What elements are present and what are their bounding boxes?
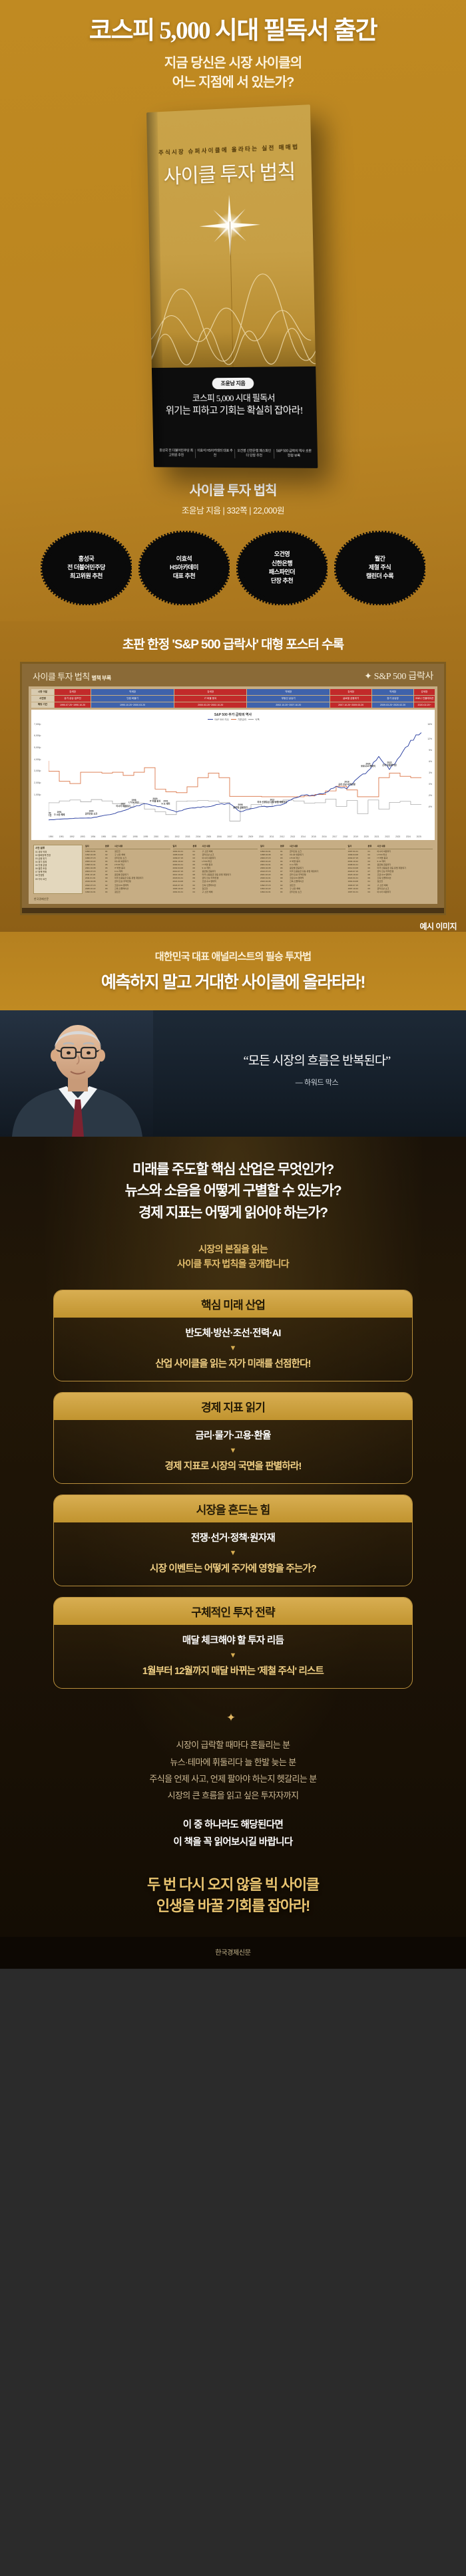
product-meta: 조윤남 지음 | 332쪽 | 22,000원 xyxy=(0,503,466,516)
sparkle-icon: ✦ xyxy=(0,1711,466,1725)
svg-text:금리 인상·무역전쟁: 금리 인상·무역전쟁 xyxy=(338,782,355,786)
chart-x-tick: 2022 xyxy=(385,835,389,838)
closing-line: 시장의 큰 흐름을 읽고 싶은 투자자까지 xyxy=(0,1787,466,1804)
book-tagline: 주식시장 슈퍼사이클에 올라타는 실전 매매법 xyxy=(147,142,311,156)
chart-x-tick: 2013 xyxy=(290,835,295,838)
strip-row-label: 시장 구분 xyxy=(31,689,54,695)
strip-cell: 2020.02.20~ xyxy=(414,702,435,708)
event-legend: 사건 분류 01 대외 악재 02 통화정책 변경 03 금융 위기 04 경기… xyxy=(33,845,83,894)
book-author-pill: 조윤남 지음 xyxy=(212,377,254,388)
chart-y-tick: 2,000p xyxy=(34,782,41,784)
poster-publisher-mark: 한국경제신문 xyxy=(31,896,435,901)
badge-line: 월간 xyxy=(375,555,385,563)
svg-text:9·11 테러: 9·11 테러 xyxy=(162,801,170,805)
strip-cell: 강세장 xyxy=(330,689,371,695)
page-title: 코스피 5,000 시대 필독서 출간 xyxy=(0,17,466,46)
event-row: 1997.01.0104아시아 외환위기 xyxy=(348,891,433,894)
strip-cell: 코로나·인플레이션 xyxy=(414,696,435,702)
strip-cell: 강세장 xyxy=(174,689,246,695)
card-investment-strategy: 구체적인 투자 전략 매달 체크해야 할 투자 리듬 ▼ 1월부터 12월까지 … xyxy=(53,1597,413,1689)
chart-x-tick: 2009 xyxy=(248,835,253,838)
strip-cell: 장기 상승장 xyxy=(372,696,413,702)
event-column: 일자분류사건 내용1997.01.0101아시아 외환위기1999.04.080… xyxy=(348,845,433,894)
poster-bar: 사이클 투자 법칙 별책 부록 ✦ S&P 500 급락사 xyxy=(29,669,437,686)
final-cta: 두 번 다시 오지 않을 빅 사이클 인생을 바꿀 기회를 잡아라! xyxy=(0,1874,466,1937)
cta-subtitle: 대한민국 대표 애널리스트의 필승 투자법 xyxy=(0,949,466,963)
chart-y2-tick: -6% xyxy=(428,805,432,808)
event-legend-title: 사건 분류 xyxy=(35,847,81,850)
chart-y2-tick: -3% xyxy=(428,794,432,797)
strip-row-label: 사건명 xyxy=(31,696,54,702)
badge-line: 제철 주식 xyxy=(369,563,391,572)
badge-line: 전 더불어민주당 xyxy=(67,563,105,572)
chart-y2-tick: 16% xyxy=(427,723,432,726)
card-keywords: 반도체·방산·조선·전력·AI xyxy=(54,1326,412,1340)
poster-inner: 사이클 투자 법칙 별책 부록 ✦ S&P 500 급락사 시장 구분 강세장 … xyxy=(22,664,444,908)
event-row: 1990.01.0104걸프전 xyxy=(85,891,170,894)
svg-text:LTCM 파산: LTCM 파산 xyxy=(128,800,138,803)
chart-plot: 1990걸프전1991구 소련 해체1994금리인상 쇼크1997아시아 외환위… xyxy=(49,724,421,825)
closing-block: 시장이 급락할 때마다 흔들리는 분 뉴스·테마에 휘둘리다 늘 한발 늦는 분… xyxy=(0,1737,466,1852)
card-market-forces: 시장을 흔드는 힘 전쟁·선거·정책·원자재 ▼ 시장 이벤트는 어떻게 주가에… xyxy=(53,1495,413,1586)
sp500-chart: S&P 500 주가 급락의 역사 S&P 500 지수 기준금리 낙폭 199… xyxy=(31,710,435,840)
chart-x-axis: 1990199119921993199419951996199719981999… xyxy=(49,835,421,838)
badge-line: 캘린더 수록 xyxy=(366,572,393,581)
chart-y2-tick: 12% xyxy=(427,738,432,740)
card-list: 핵심 미래 산업 반도체·방산·조선·전력·AI ▼ 산업 사이클을 읽는 자가… xyxy=(53,1290,413,1689)
chart-title: S&P 500 주가 급락의 역사 xyxy=(33,712,433,717)
chart-x-tick: 1997 xyxy=(122,835,127,838)
lead-block: 시장의 본질을 읽는 사이클 투자 법칙을 공개합니다 xyxy=(0,1242,466,1272)
quote-attribution: — 하워드 막스 xyxy=(184,1077,450,1087)
event-row: 1991.01.0104구 소련 해체 xyxy=(173,891,258,894)
chart-x-tick: 1998 xyxy=(132,835,137,838)
content-section: 미래를 주도할 핵심 산업은 무엇인가? 뉴스와 소음을 어떻게 구별할 수 있… xyxy=(0,1137,466,1937)
chart-x-tick: 2020 xyxy=(364,835,369,838)
strip-cell: 닷컴 버블기 xyxy=(91,696,174,702)
hero-subtitle-line1: 지금 당신은 시장 사이클의 xyxy=(0,54,466,73)
book-title: 사이클 투자 법칙 xyxy=(148,154,312,190)
badge-row: 홍성국 전 더불어민주당 최고위원 추천 이효석 HS아카데미 대표 추천 오건… xyxy=(0,531,466,621)
card-outcome: 산업 사이클을 읽는 자가 미래를 선점한다! xyxy=(54,1356,412,1377)
strip-cell: 1990.07.20~1990.10.20 xyxy=(55,702,91,708)
chart-y-tick: 5,000p xyxy=(34,746,41,749)
svg-text:코로나19 팬데믹: 코로나19 팬데믹 xyxy=(361,764,375,768)
chart-x-tick: 2014 xyxy=(301,835,306,838)
svg-text:미국 신용등급 강등·유럽 재정위기: 미국 신용등급 강등·유럽 재정위기 xyxy=(258,800,288,803)
chart-x-tick: 2015 xyxy=(312,835,316,838)
card-outcome: 1월부터 12월까지 매달 바뀌는 '제철 주식' 리스트 xyxy=(54,1663,412,1684)
closing-line: 시장이 급락할 때마다 흔들리는 분 xyxy=(0,1737,466,1753)
chart-x-tick: 1992 xyxy=(70,835,75,838)
chart-x-tick: 2004 xyxy=(196,835,200,838)
chart-y-tick: 1,000p xyxy=(34,793,41,796)
strip-cell: 1990.10.20~2000.03.20 xyxy=(91,702,174,708)
strip-cell: 2007.10.20~2009.03.20 xyxy=(330,702,371,708)
chart-x-tick: 2003 xyxy=(185,835,190,838)
market-period-strip: 시장 구분 강세장 약세장 강세장 약세장 강세장 약세장 강세장 사건명 유가… xyxy=(31,689,435,708)
chart-x-tick: 2006 xyxy=(217,835,222,838)
badge-line: 패스파인더 xyxy=(269,568,295,577)
poster-sheet: 시장 구분 강세장 약세장 강세장 약세장 강세장 약세장 강세장 사건명 유가… xyxy=(29,686,437,904)
quote-block: “모든 시장의 흐름은 반복된다” — 하워드 막스 xyxy=(184,1052,450,1087)
howard-marks-portrait xyxy=(0,1010,153,1137)
chevron-down-icon: ▼ xyxy=(54,1549,412,1557)
chart-x-tick: 2019 xyxy=(353,835,358,838)
strip-row-label: 해당 기간 xyxy=(31,702,54,708)
chart-y2-tick: 9% xyxy=(429,749,432,752)
card-body: 전쟁·선거·정책·원자재 ▼ 시장 이벤트는 어떻게 주가에 영향을 주는가? xyxy=(54,1522,412,1586)
badge-label: 이효석 HS아카데미 대표 추천 xyxy=(138,531,230,605)
poster-bar-right: ✦ S&P 500 급락사 xyxy=(364,669,433,682)
poster-bar-left-title: 사이클 투자 법칙 xyxy=(33,672,90,682)
chart-y2-tick: 6% xyxy=(429,760,432,763)
svg-text:금리인상 쇼크: 금리인상 쇼크 xyxy=(85,811,98,815)
legend-item: 기준금리 xyxy=(238,718,246,721)
poster-bar-left: 사이클 투자 법칙 별책 부록 xyxy=(33,670,111,682)
strip-cell: 2009.03.20~2020.02.20 xyxy=(372,702,413,708)
closing-highlight: 이 중 하나라도 해당된다면 xyxy=(0,1816,466,1834)
footer-publisher: 한국경제신문 xyxy=(215,1949,250,1957)
badge-line: 오건영 xyxy=(274,550,290,559)
chart-x-tick: 2021 xyxy=(374,835,379,838)
chart-x-tick: 2005 xyxy=(206,835,211,838)
book-band-line2: 위기는 피하고 기회는 확실히 잡아라! xyxy=(152,402,317,417)
chart-x-tick: 1994 xyxy=(91,835,95,838)
final-line: 두 번 다시 오지 않을 빅 사이클 xyxy=(0,1874,466,1896)
strip-cell: IT 버블 붕괴 xyxy=(174,696,246,702)
badge-label: 오건영 신한은행 패스파인더 단장 추천 xyxy=(236,531,328,605)
lead-line: 시장의 본질을 읽는 xyxy=(0,1242,466,1256)
chart-x-tick: 1999 xyxy=(143,835,148,838)
card-outcome: 경제 지표로 시장의 국면을 판별하라! xyxy=(54,1459,412,1479)
chart-x-tick: 2000 xyxy=(154,835,158,838)
strip-cell: 약세장 xyxy=(91,689,174,695)
chart-x-tick: 2011 xyxy=(270,835,274,838)
book-3d: 주식시장 슈퍼사이클에 올라타는 실전 매매법 사이클 투자 법칙 xyxy=(146,104,318,468)
chart-x-tick: 2025 xyxy=(417,835,421,838)
chart-x-tick: 1996 xyxy=(112,835,116,838)
product-title: 사이클 투자 법칙 xyxy=(0,480,466,499)
chart-y-tick: 3,000p xyxy=(34,770,41,772)
card-body: 금리·물가·고용·환율 ▼ 경제 지표로 시장의 국면을 판별하라! xyxy=(54,1420,412,1483)
card-header: 구체적인 투자 전략 xyxy=(54,1598,412,1625)
card-body: 반도체·방산·조선·전력·AI ▼ 산업 사이클을 읽는 자가 미래를 선점한다… xyxy=(54,1318,412,1381)
book-band-line1: 코스피 5,000 시대 필독서 xyxy=(152,390,317,404)
example-image-label: 예시 이미지 xyxy=(0,915,466,932)
question-line: 뉴스와 소음을 어떻게 구별할 수 있는가? xyxy=(0,1181,466,1203)
question-line: 미래를 주도할 핵심 산업은 무엇인가? xyxy=(0,1159,466,1181)
chart-x-tick: 2010 xyxy=(259,835,264,838)
final-line: 인생을 바꿀 기회를 잡아라! xyxy=(0,1896,466,1917)
badge-line: 홍성국 xyxy=(79,555,95,563)
chart-y-tick: 7,000p xyxy=(34,723,41,726)
strip-cell: 유가 상승·걸프전 xyxy=(55,696,91,702)
chart-x-tick: 2001 xyxy=(164,835,169,838)
strip-row-kind: 시장 구분 강세장 약세장 강세장 약세장 강세장 약세장 강세장 xyxy=(31,689,435,695)
svg-text:구 소련 해체: 구 소련 해체 xyxy=(54,813,65,816)
event-column: 일자분류사건 내용1991.01.0101구 소련 해체1995.04.0802… xyxy=(173,845,258,894)
legend-item: 낙폭 xyxy=(255,718,260,721)
quote-text: “모든 시장의 흐름은 반복된다” xyxy=(184,1052,450,1069)
event-column: 일자분류사건 내용1994.01.0101금리인상 쇼크1998.04.0802… xyxy=(260,845,346,894)
book-endorsement-row: 홍성국 전 더불어민주당 최고위원 추천 이효석 HS아카데미 대표 추천 오건… xyxy=(157,448,314,459)
strip-cell: 강세장 xyxy=(414,689,435,695)
badge-lee-hyo-seok: 이효석 HS아카데미 대표 추천 xyxy=(138,531,230,605)
chart-y2-tick: 0% xyxy=(429,783,432,786)
chart-x-tick: 2017 xyxy=(332,835,337,838)
closing-line: 주식을 언제 사고, 언제 팔아야 하는지 헷갈리는 분 xyxy=(0,1771,466,1787)
card-header: 핵심 미래 산업 xyxy=(54,1290,412,1318)
event-table: 사건 분류 01 대외 악재 02 통화정책 변경 03 금융 위기 04 경기… xyxy=(31,843,435,896)
strip-cell: 약세장 xyxy=(372,689,413,695)
badge-hong-seong-guk: 홍성국 전 더불어민주당 최고위원 추천 xyxy=(41,531,132,605)
strip-cell: 약세장 xyxy=(247,689,330,695)
card-keywords: 금리·물가·고용·환율 xyxy=(54,1428,412,1442)
closing-highlight: 이 책을 꼭 읽어보시길 바랍니다 xyxy=(0,1834,466,1852)
chart-y2-tick: 3% xyxy=(429,772,432,774)
poster-bar-left-sub: 별책 부록 xyxy=(91,675,111,681)
badge-line: 이효석 xyxy=(176,555,192,563)
strip-cell: 2000.03.20~2002.10.20 xyxy=(174,702,246,708)
book-endorsement: S&P 500 급락의 역사 초판 한정 부록 xyxy=(274,448,314,458)
cta-headline: 예측하지 말고 거대한 사이클에 올라타라! xyxy=(0,969,466,993)
svg-text:글로벌 금융위기: 글로벌 금융위기 xyxy=(233,805,247,808)
svg-text:긴축·인플레이션: 긴축·인플레이션 xyxy=(382,763,397,766)
footer: 한국경제신문 xyxy=(0,1937,466,1969)
badge-oh-geon-young: 오건영 신한은행 패스파인더 단장 추천 xyxy=(236,531,328,605)
chart-x-tick: 2023 xyxy=(395,835,400,838)
chart-y-tick: 4,000p xyxy=(34,758,41,761)
badge-monthly-calendar: 월간 제철 주식 캘린더 수록 xyxy=(334,531,426,605)
closing-line: 뉴스·테마에 휘둘리다 늘 한발 늦는 분 xyxy=(0,1754,466,1771)
poster-section: 초판 한정 'S&P 500 급락사' 대형 포스터 수록 사이클 투자 법칙 … xyxy=(0,621,466,932)
question-line: 경제 지표는 어떻게 읽어야 하는가? xyxy=(0,1203,466,1224)
card-economic-indicators: 경제 지표 읽기 금리·물가·고용·환율 ▼ 경제 지표로 시장의 국면을 판별… xyxy=(53,1392,413,1484)
legend-item: S&P 500 지수 xyxy=(214,718,229,721)
chart-x-tick: 2016 xyxy=(322,835,326,838)
chevron-down-icon: ▼ xyxy=(54,1651,412,1659)
chart-x-tick: 2008 xyxy=(238,835,242,838)
chart-x-tick: 2012 xyxy=(280,835,284,838)
chart-y-tick: 6,000p xyxy=(34,734,41,737)
badge-line: 최고위원 추천 xyxy=(70,572,103,581)
question-block: 미래를 주도할 핵심 산업은 무엇인가? 뉴스와 소음을 어떻게 구별할 수 있… xyxy=(0,1159,466,1224)
badge-line: 단장 추천 xyxy=(271,577,293,585)
badge-line: 대표 추천 xyxy=(173,572,195,581)
poster-heading: 초판 한정 'S&P 500 급락사' 대형 포스터 수록 xyxy=(0,631,466,662)
book-endorsement: 오건영 신한은행 패스파인더 단장 추천 xyxy=(234,448,274,458)
card-body: 매달 체크해야 할 투자 리듬 ▼ 1월부터 12월까지 매달 바뀌는 '제철 … xyxy=(54,1625,412,1688)
chevron-down-icon: ▼ xyxy=(54,1344,412,1352)
card-outcome: 시장 이벤트는 어떻게 주가에 영향을 주는가? xyxy=(54,1561,412,1582)
chart-legend: S&P 500 지수 기준금리 낙폭 xyxy=(33,718,433,722)
svg-text:IT 버블 붕괴: IT 버블 붕괴 xyxy=(150,799,160,802)
badge-line: HS아카데미 xyxy=(170,563,198,572)
chart-x-tick: 2018 xyxy=(343,835,348,838)
quote-section: “모든 시장의 흐름은 반복된다” — 하워드 막스 xyxy=(0,1010,466,1137)
lead-line: 사이클 투자 법칙을 공개합니다 xyxy=(0,1256,466,1271)
event-column: 일자분류사건 내용1990.01.0101걸프전1992.04.0802구 소련… xyxy=(85,845,170,894)
hero-subtitle: 지금 당신은 시장 사이클의 어느 지점에 서 있는가? xyxy=(0,54,466,92)
hero-section: 코스피 5,000 시대 필독서 출간 지금 당신은 시장 사이클의 어느 지점… xyxy=(0,0,466,621)
poster-frame: 사이클 투자 법칙 별책 부록 ✦ S&P 500 급락사 시장 구분 강세장 … xyxy=(20,662,446,915)
strip-cell: 2002.10.20~2007.10.20 xyxy=(247,702,330,708)
svg-text:아시아 외환위기: 아시아 외환위기 xyxy=(116,804,130,807)
card-keywords: 매달 체크해야 할 투자 리듬 xyxy=(54,1633,412,1647)
promo-page: 코스피 5,000 시대 필독서 출간 지금 당신은 시장 사이클의 어느 지점… xyxy=(0,0,466,1969)
badge-line: 신한은행 xyxy=(272,559,292,568)
badge-label: 월간 제철 주식 캘린더 수록 xyxy=(334,531,426,605)
chart-x-tick: 1993 xyxy=(80,835,85,838)
card-keywords: 전쟁·선거·정책·원자재 xyxy=(54,1530,412,1544)
chart-x-tick: 1995 xyxy=(101,835,106,838)
svg-text:걸프전: 걸프전 xyxy=(49,813,51,817)
chart-x-tick: 1991 xyxy=(59,835,64,838)
card-header: 경제 지표 읽기 xyxy=(54,1393,412,1420)
strip-row-event: 사건명 유가 상승·걸프전 닷컴 버블기 IT 버블 붕괴 부동산 상승기 글로… xyxy=(31,696,435,702)
event-row: 1994.01.0104금리인상 쇼크 xyxy=(260,891,346,894)
hero-subtitle-line2: 어느 지점에 서 있는가? xyxy=(0,73,466,92)
chart-x-tick: 2002 xyxy=(175,835,180,838)
strip-cell: 글로벌 금융위기 xyxy=(330,696,371,702)
book-cover-image: 주식시장 슈퍼사이클에 올라타는 실전 매매법 사이클 투자 법칙 xyxy=(143,103,323,476)
cycle-wave-graphic xyxy=(150,259,316,368)
chart-x-tick: 2024 xyxy=(406,835,411,838)
card-header: 시장을 흔드는 힘 xyxy=(54,1495,412,1522)
cta-section: 대한민국 대표 애널리스트의 필승 투자법 예측하지 말고 거대한 사이클에 올… xyxy=(0,932,466,1010)
strip-cell: 강세장 xyxy=(55,689,91,695)
card-core-industry: 핵심 미래 산업 반도체·방산·조선·전력·AI ▼ 산업 사이클을 읽는 자가… xyxy=(53,1290,413,1381)
chevron-down-icon: ▼ xyxy=(54,1447,412,1455)
chart-x-tick: 1990 xyxy=(49,835,53,838)
strip-cell: 부동산 상승기 xyxy=(247,696,330,702)
event-legend-item: 09 기타 요인 xyxy=(35,878,81,881)
strip-row-period: 해당 기간 1990.07.20~1990.10.20 1990.10.20~2… xyxy=(31,702,435,708)
book-endorsement: 이효석 HS아카데미 대표 추천 xyxy=(195,448,234,458)
badge-label: 홍성국 전 더불어민주당 최고위원 추천 xyxy=(41,531,132,605)
chart-x-tick: 2007 xyxy=(228,835,232,838)
